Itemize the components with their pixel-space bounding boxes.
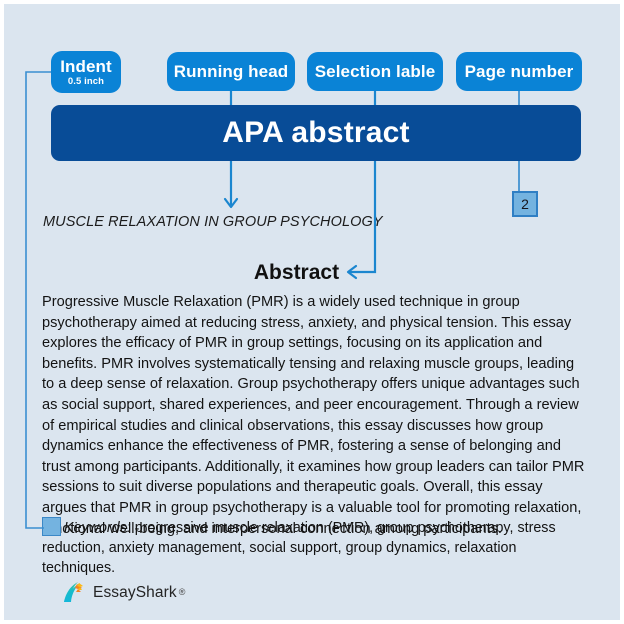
callout-page-number[interactable]: Page number (456, 52, 582, 91)
callout-indent-sublabel: 0.5 inch (68, 76, 104, 87)
infographic-page: APA abstract Indent 0.5 inch Running hea… (0, 0, 624, 624)
callout-selection-label-text: Selection lable (315, 62, 436, 81)
document-page-number: 2 (512, 191, 538, 217)
callout-selection-label[interactable]: Selection lable (307, 52, 443, 91)
callout-indent-label: Indent (60, 57, 112, 76)
document-section-heading: Abstract (4, 261, 589, 285)
banner-title-text: APA abstract (222, 116, 409, 150)
banner-title: APA abstract (51, 105, 581, 161)
callout-page-number-label: Page number (465, 62, 574, 81)
connector-lines (4, 4, 624, 624)
callout-running-head-label: Running head (174, 62, 289, 81)
callout-running-head[interactable]: Running head (167, 52, 295, 91)
callout-indent[interactable]: Indent 0.5 inch (51, 51, 121, 93)
